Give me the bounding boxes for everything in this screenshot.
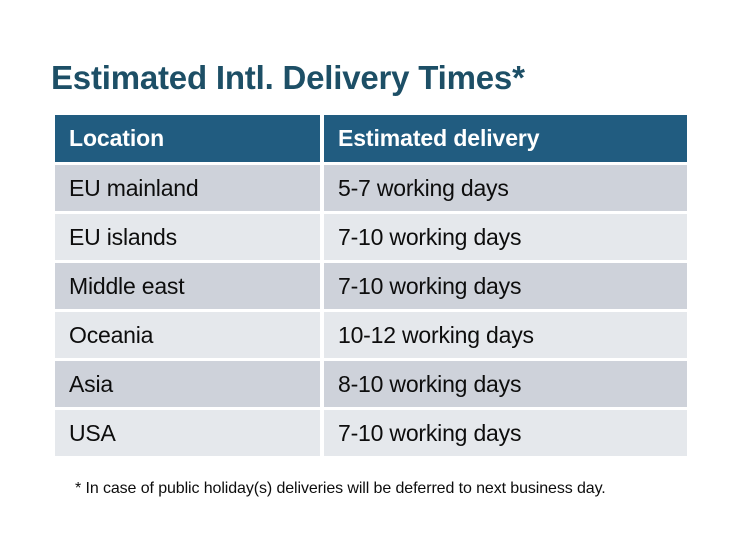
cell-delivery: 7-10 working days [324, 263, 687, 309]
table-row: EU mainland 5-7 working days [55, 165, 687, 211]
cell-delivery: 5-7 working days [324, 165, 687, 211]
column-header-delivery: Estimated delivery [324, 115, 687, 162]
table-row: Middle east 7-10 working days [55, 263, 687, 309]
cell-delivery: 7-10 working days [324, 410, 687, 456]
table-header: Location Estimated delivery [55, 115, 687, 162]
table-body: EU mainland 5-7 working days EU islands … [55, 165, 687, 456]
cell-delivery: 7-10 working days [324, 214, 687, 260]
cell-location: USA [55, 410, 320, 456]
cell-location: EU islands [55, 214, 320, 260]
delivery-times-page: Estimated Intl. Delivery Times* Location… [0, 0, 745, 536]
cell-location: EU mainland [55, 165, 320, 211]
page-title: Estimated Intl. Delivery Times* [51, 58, 525, 98]
table-row: Oceania 10-12 working days [55, 312, 687, 358]
table-row: EU islands 7-10 working days [55, 214, 687, 260]
table-row: USA 7-10 working days [55, 410, 687, 456]
cell-delivery: 8-10 working days [324, 361, 687, 407]
cell-delivery: 10-12 working days [324, 312, 687, 358]
delivery-times-table: Location Estimated delivery EU mainland … [51, 112, 691, 459]
cell-location: Oceania [55, 312, 320, 358]
column-header-location: Location [55, 115, 320, 162]
footnote: * In case of public holiday(s) deliverie… [75, 478, 606, 500]
table-header-row: Location Estimated delivery [55, 115, 687, 162]
cell-location: Middle east [55, 263, 320, 309]
cell-location: Asia [55, 361, 320, 407]
table-row: Asia 8-10 working days [55, 361, 687, 407]
